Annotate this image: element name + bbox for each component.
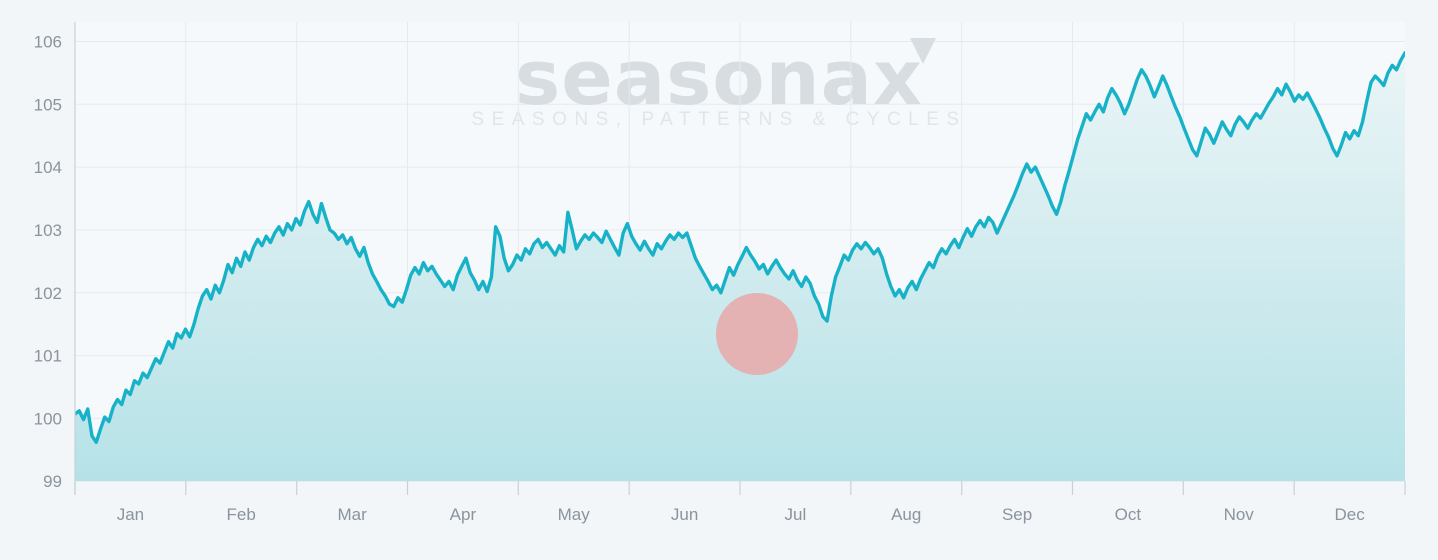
ytick-102: 102 [34, 284, 62, 303]
xtick-label-apr: Apr [450, 505, 477, 524]
ytick-103: 103 [34, 221, 62, 240]
xtick-label-jan: Jan [117, 505, 144, 524]
ytick-106: 106 [34, 33, 62, 52]
xtick-label-feb: Feb [227, 505, 256, 524]
xtick-label-dec: Dec [1334, 505, 1365, 524]
xtick-label-mar: Mar [337, 505, 367, 524]
seasonal-dip-highlight-circle[interactable] [716, 293, 798, 375]
xtick-label-nov: Nov [1224, 505, 1255, 524]
seasonax-chart: seasonax SEASONS, PATTERNS & CYCLES [0, 0, 1438, 560]
xtick-label-oct: Oct [1115, 505, 1142, 524]
seasonax-watermark: seasonax SEASONS, PATTERNS & CYCLES [471, 33, 966, 130]
xtick-label-jun: Jun [671, 505, 698, 524]
ytick-101: 101 [34, 347, 62, 366]
xtick-label-sep: Sep [1002, 505, 1032, 524]
ytick-105: 105 [34, 95, 62, 114]
chart-canvas: seasonax SEASONS, PATTERNS & CYCLES [0, 0, 1438, 560]
xtick-label-may: May [558, 505, 591, 524]
ytick-104: 104 [34, 158, 62, 177]
ytick-99: 99 [43, 472, 62, 491]
xtick-label-jul: Jul [785, 505, 807, 524]
ytick-100: 100 [34, 409, 62, 428]
watermark-tagline: SEASONS, PATTERNS & CYCLES [471, 109, 966, 130]
xtick-label-aug: Aug [891, 505, 921, 524]
